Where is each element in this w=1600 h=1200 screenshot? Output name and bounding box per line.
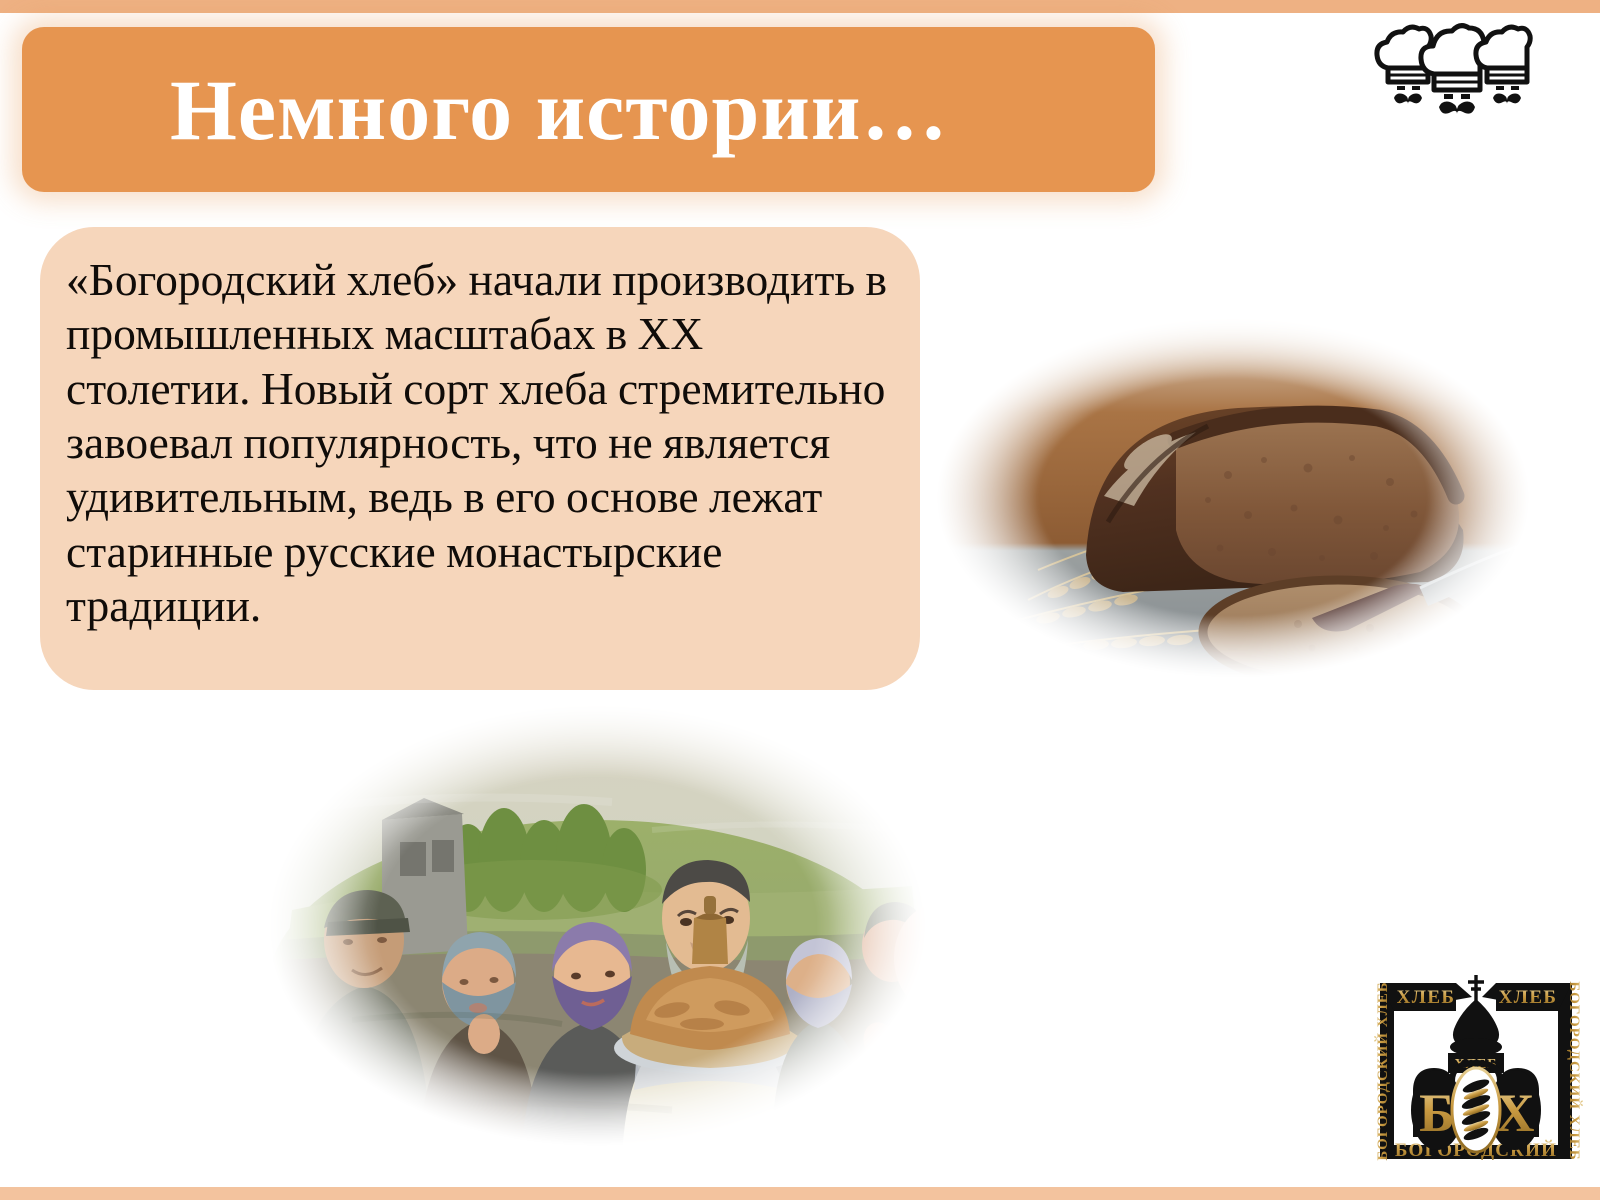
logo-top-left-word: ХЛЕБ <box>1397 987 1456 1008</box>
chef-hats-icon <box>1372 22 1540 122</box>
logo-right-side-word: БОГОРОДСКИЙ ХЛЕБ <box>1566 981 1583 1160</box>
bottom-accent-strip <box>0 1187 1600 1200</box>
logo-left-side-word: БОГОРОДСКИЙ ХЛЕБ <box>1374 981 1391 1160</box>
logo-top-right-word: ХЛЕБ <box>1499 987 1558 1008</box>
page-title: Немного истории… <box>170 67 948 153</box>
body-paragraph: «Богородский хлеб» начали производить в … <box>66 253 890 634</box>
logo-bread-icon <box>1452 1068 1500 1152</box>
bogorodsky-bread-logo: ХЛЕБ ХЛЕБ БОГОРОДСКИЙ БОГОРОДСКИЙ ХЛЕБ Б… <box>1368 955 1584 1171</box>
bread-and-salt-painting <box>232 690 962 1160</box>
bread-loaf-photo <box>908 300 1558 695</box>
title-banner: Немного истории… <box>22 27 1155 192</box>
logo-monogram-left: Б <box>1419 1083 1455 1143</box>
top-accent-strip <box>0 0 1600 13</box>
body-text-card: «Богородский хлеб» начали производить в … <box>40 227 920 690</box>
